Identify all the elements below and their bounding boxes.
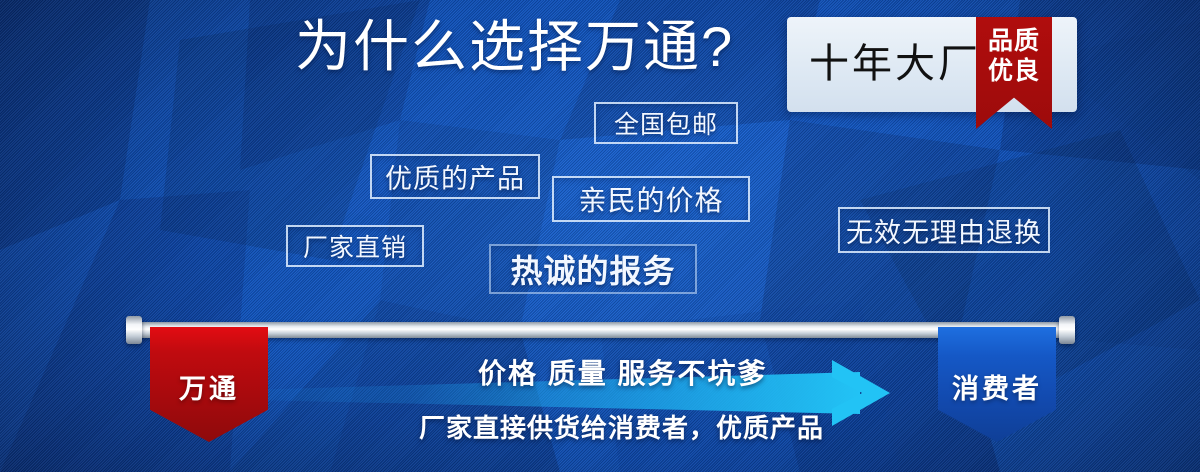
flow-subheadline-text: 厂家直接供货给消费者，优质产品 bbox=[419, 408, 824, 445]
rod-end-cap-right bbox=[1059, 316, 1075, 344]
feature-tag-sincere-service: 热诚的报务 bbox=[489, 244, 697, 294]
feature-tag-affordable-price: 亲民的价格 bbox=[552, 176, 750, 222]
page-title: 为什么选择万通? bbox=[295, 16, 734, 78]
feature-tag-no-reason-return: 无效无理由退换 bbox=[838, 207, 1050, 253]
pennant-consumer-label: 消费者 bbox=[952, 367, 1042, 406]
quality-badge: 十年大厂 品质 优良 bbox=[787, 17, 1077, 112]
promo-banner: 为什么选择万通? 十年大厂 品质 优良 全国包邮 优质的产品 亲民的价格 厂家直… bbox=[0, 0, 1200, 472]
ribbon-label-line1: 品质 bbox=[976, 28, 1052, 55]
flow-headline-text: 价格 质量 服务不坑爹 bbox=[478, 352, 768, 392]
rod-end-cap-left bbox=[126, 316, 142, 344]
ribbon-label-line2: 优良 bbox=[976, 58, 1052, 85]
pennant-manufacturer-label: 万通 bbox=[179, 367, 239, 406]
feature-tag-factory-direct-sales: 厂家直销 bbox=[286, 225, 424, 267]
feature-tag-quality-product: 优质的产品 bbox=[370, 154, 540, 199]
banner-rod bbox=[128, 322, 1074, 338]
badge-panel-label: 十年大厂 bbox=[809, 39, 981, 89]
feature-tag-nationwide-free-shipping: 全国包邮 bbox=[594, 102, 738, 144]
